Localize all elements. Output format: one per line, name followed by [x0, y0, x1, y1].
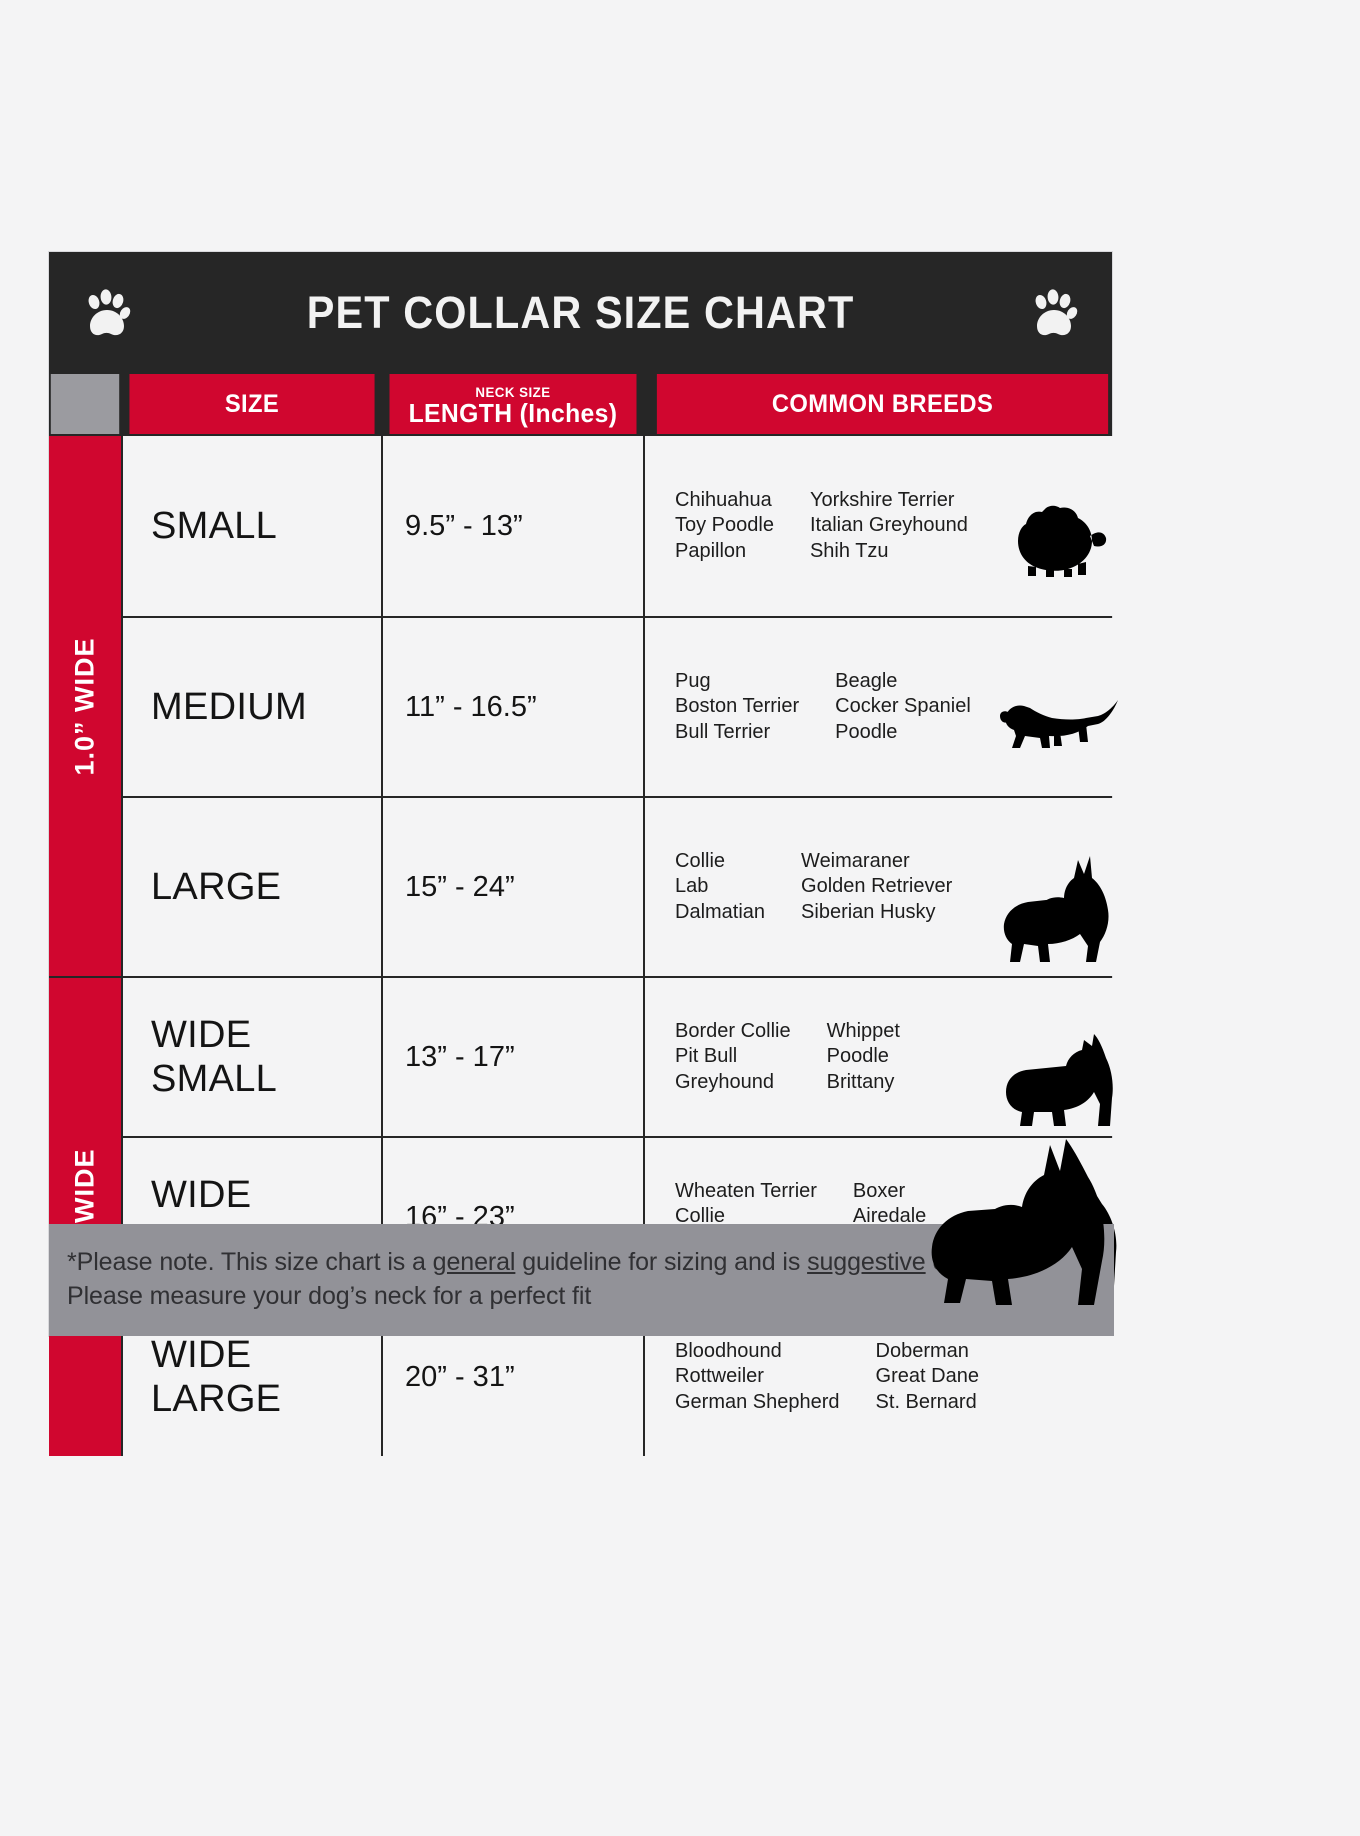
- breed-item: Chihuahua: [675, 488, 774, 514]
- breed-item: Great Dane: [876, 1364, 979, 1390]
- row-wide-small-size-label: WIDE SMALL: [151, 1013, 277, 1101]
- breed-item: German Shepherd: [675, 1390, 840, 1416]
- breed-item: Rottweiler: [675, 1364, 840, 1390]
- paw-print-icon: [81, 288, 133, 340]
- row-large-breeds-col1: Collie Lab Dalmatian: [675, 849, 765, 926]
- page-title: PET COLLAR SIZE CHART: [307, 287, 855, 339]
- breed-item: Weimaraner: [801, 849, 952, 875]
- breed-item: Collie: [675, 849, 765, 875]
- row-small-breeds: Chihuahua Toy Poodle Papillon Yorkshire …: [645, 436, 1120, 616]
- size-chart-card: PET COLLAR SIZE CHART SIZE NECK SIZE: [48, 251, 1113, 1337]
- breed-item: Doberman: [876, 1339, 979, 1365]
- row-wide-large-breeds-col2: Doberman Great Dane St. Bernard: [876, 1339, 979, 1416]
- footer-note-line1-part-b: guideline for sizing and is: [515, 1248, 807, 1276]
- chart-titlebar: PET COLLAR SIZE CHART: [49, 252, 1112, 374]
- breed-item: Italian Greyhound: [810, 513, 968, 539]
- breed-item: Dalmatian: [675, 900, 765, 926]
- column-header-neck-size-label: NECK SIZE: [475, 385, 550, 399]
- row-small-size: SMALL: [123, 436, 381, 616]
- footer-note-line2: Please measure your dog’s neck for a per…: [67, 1280, 1092, 1314]
- breed-item: Toy Poodle: [675, 513, 774, 539]
- breed-item: Border Collie: [675, 1019, 791, 1045]
- breed-item: Wheaten Terrier: [675, 1179, 817, 1205]
- paw-print-icon: [1028, 288, 1080, 340]
- breed-item: Poodle: [827, 1044, 900, 1070]
- group-band-one-inch: 1.0” WIDE: [49, 436, 121, 976]
- footer-note-line1: *Please note. This size chart is a gener…: [67, 1246, 1092, 1280]
- row-wide-small-breeds: Border Collie Pit Bull Greyhound Whippet…: [645, 978, 1120, 1136]
- row-large-breeds: Collie Lab Dalmatian Weimaraner Golden R…: [645, 798, 1120, 976]
- row-large-length: 15” - 24”: [383, 798, 643, 976]
- breed-item: Cocker Spaniel: [835, 694, 971, 720]
- breed-item: Siberian Husky: [801, 900, 952, 926]
- footer-note-line1-part-c: only.: [926, 1248, 983, 1276]
- breed-item: Bull Terrier: [675, 720, 799, 746]
- footer-note-underline-general: general: [433, 1248, 516, 1276]
- breed-item: Brittany: [827, 1070, 900, 1096]
- footer-note-underline-suggestive: suggestive: [807, 1248, 926, 1276]
- row-wide-small-size-line2: SMALL: [151, 1057, 277, 1101]
- breed-item: Golden Retriever: [801, 874, 952, 900]
- breed-item: Boxer: [853, 1179, 991, 1205]
- breed-item: Bloodhound: [675, 1339, 840, 1365]
- row-wide-small-length: 13” - 17”: [383, 978, 643, 1136]
- row-small-breeds-col2: Yorkshire Terrier Italian Greyhound Shih…: [810, 488, 968, 565]
- column-header-size: SIZE: [129, 374, 374, 434]
- breed-item: Papillon: [675, 539, 774, 565]
- breed-item: Poodle: [835, 720, 971, 746]
- row-wide-large-size-line2: LARGE: [151, 1377, 281, 1421]
- breed-item: Lab: [675, 874, 765, 900]
- row-wide-small-size: WIDE SMALL: [123, 978, 381, 1136]
- page-root: PET COLLAR SIZE CHART SIZE NECK SIZE: [0, 0, 1360, 1836]
- row-medium-size: MEDIUM: [123, 618, 381, 796]
- row-small-length: 9.5” - 13”: [383, 436, 643, 616]
- column-header-length-label: LENGTH (Inches): [409, 400, 618, 426]
- breed-item: Shih Tzu: [810, 539, 968, 565]
- row-wide-medium-size-line1: WIDE: [151, 1173, 307, 1217]
- breed-item: Pug: [675, 669, 799, 695]
- row-small-breeds-col1: Chihuahua Toy Poodle Papillon: [675, 488, 774, 565]
- row-small-size-label: SMALL: [151, 504, 277, 548]
- table-corner-cell: [51, 374, 119, 434]
- row-medium-breeds-col2: Beagle Cocker Spaniel Poodle: [835, 669, 971, 746]
- breed-item: Beagle: [835, 669, 971, 695]
- row-wide-large-size-label: WIDE LARGE: [151, 1333, 281, 1421]
- row-large-size: LARGE: [123, 798, 381, 976]
- row-wide-large-breeds-col1: Bloodhound Rottweiler German Shepherd: [675, 1339, 840, 1416]
- row-wide-small-size-line1: WIDE: [151, 1013, 277, 1057]
- breed-item: Whippet: [827, 1019, 900, 1045]
- row-wide-small-breeds-col1: Border Collie Pit Bull Greyhound: [675, 1019, 791, 1096]
- column-header-neck-length: NECK SIZE LENGTH (Inches): [390, 374, 637, 434]
- row-medium-size-label: MEDIUM: [151, 685, 307, 729]
- row-medium-breeds: Pug Boston Terrier Bull Terrier Beagle C…: [645, 618, 1120, 796]
- footer-note: *Please note. This size chart is a gener…: [49, 1224, 1114, 1336]
- row-wide-small-breeds-col2: Whippet Poodle Brittany: [827, 1019, 900, 1096]
- row-large-size-label: LARGE: [151, 865, 281, 909]
- breed-item: Boston Terrier: [675, 694, 799, 720]
- breed-item: Yorkshire Terrier: [810, 488, 968, 514]
- breed-item: Greyhound: [675, 1070, 791, 1096]
- breed-item: St. Bernard: [876, 1390, 979, 1416]
- group-band-one-half-inch: 1.5” WIDE: [49, 978, 121, 1456]
- row-large-breeds-col2: Weimaraner Golden Retriever Siberian Hus…: [801, 849, 952, 926]
- footer-note-line1-part-a: *Please note. This size chart is a: [67, 1248, 433, 1276]
- row-wide-large-size-line1: WIDE: [151, 1333, 281, 1377]
- column-header-common-breeds: COMMON BREEDS: [657, 374, 1108, 434]
- row-medium-breeds-col1: Pug Boston Terrier Bull Terrier: [675, 669, 799, 746]
- group-band-one-inch-label: 1.0” WIDE: [70, 637, 101, 775]
- row-medium-length: 11” - 16.5”: [383, 618, 643, 796]
- breed-item: Pit Bull: [675, 1044, 791, 1070]
